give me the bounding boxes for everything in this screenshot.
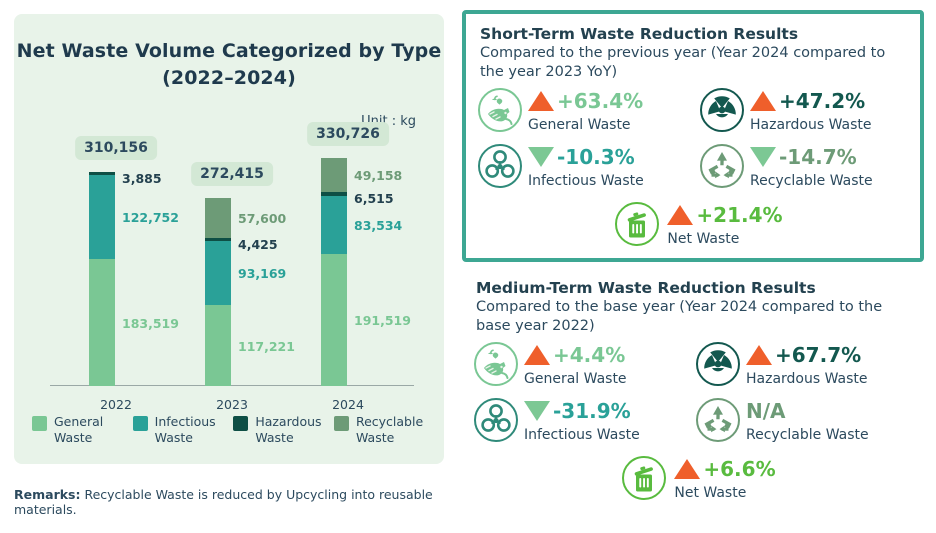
kpi-label: Recyclable Waste	[750, 173, 873, 189]
bar-total-pill: 330,726	[307, 122, 389, 146]
x-axis-tick: 2024	[288, 397, 408, 412]
trend-up-icon	[528, 91, 554, 111]
bar-segment-label: 49,158	[354, 168, 402, 183]
short-term-title: Short-Term Waste Reduction Results	[480, 24, 920, 44]
kpi-item: +4.4%General Waste	[472, 340, 694, 396]
kpi-value: N/A	[746, 399, 786, 423]
legend-swatch	[334, 416, 349, 431]
kpi-item: +67.7%Hazardous Waste	[694, 340, 916, 396]
bar-segment-label: 93,169	[238, 266, 286, 281]
chart-title: Net Waste Volume Categorized by Type (20…	[14, 38, 444, 92]
legend-item: InfectiousWaste	[133, 414, 229, 446]
legend-item: HazardousWaste	[233, 414, 329, 446]
kpi-label: Infectious Waste	[524, 427, 640, 443]
kpi-item-net-waste: +21.4%Net Waste	[476, 200, 920, 249]
kpi-item: +63.4%General Waste	[476, 86, 698, 142]
kpi-label: Hazardous Waste	[746, 371, 868, 387]
kpi-label: Net Waste	[667, 231, 739, 247]
trend-up-icon	[524, 345, 550, 365]
kpi-value: +21.4%	[696, 203, 782, 227]
kpi-label: Hazardous Waste	[750, 117, 872, 133]
x-axis-tick: 2023	[172, 397, 292, 412]
bar-segment	[89, 175, 115, 260]
kpi-value: -10.3%	[557, 145, 635, 169]
stacked-bar-plot: 3,885122,752183,519310,156202257,6004,42…	[42, 142, 422, 414]
kpi-item: -31.9%Infectious Waste	[472, 396, 694, 452]
kpi-label: General Waste	[524, 371, 627, 387]
bar-segment-label: 191,519	[354, 313, 411, 328]
legend-item: RecyclableWaste	[334, 414, 430, 446]
waste-volume-chart-card: Net Waste Volume Categorized by Type (20…	[14, 14, 444, 464]
legend-label: InfectiousWaste	[155, 414, 216, 446]
legend-swatch	[233, 416, 248, 431]
bar-segment-label: 3,885	[122, 171, 162, 186]
medium-term-subtitle: Compared to the base year (Year 2024 com…	[476, 298, 908, 336]
kpi-label: Recyclable Waste	[746, 427, 869, 443]
bar-segment	[321, 254, 347, 386]
trend-down-icon	[524, 401, 550, 421]
kpi-value: -14.7%	[779, 145, 857, 169]
bar-segment-label: 4,425	[238, 237, 278, 252]
short-term-subtitle: Compared to the previous year (Year 2024…	[480, 44, 912, 82]
kpi-value: +47.2%	[779, 89, 865, 113]
short-term-results-panel: Short-Term Waste Reduction Results Compa…	[462, 10, 924, 262]
kpi-value: +67.7%	[775, 343, 861, 367]
legend-label: RecyclableWaste	[356, 414, 423, 446]
kpi-label: General Waste	[528, 117, 631, 133]
kpi-item: N/ARecyclable Waste	[694, 396, 916, 452]
kpi-item: +47.2%Hazardous Waste	[698, 86, 920, 142]
trend-up-icon	[667, 205, 693, 225]
bar-total-pill: 272,415	[191, 162, 273, 186]
medium-term-kpi-grid: +4.4%General Waste+67.7%Hazardous Waste-…	[462, 340, 924, 503]
bar-stack	[321, 158, 347, 386]
legend-item: GeneralWaste	[32, 414, 128, 446]
bar-segment	[205, 305, 231, 386]
legend-swatch	[133, 416, 148, 431]
legend-label: HazardousWaste	[255, 414, 321, 446]
bar-stack	[205, 198, 231, 386]
recycle-icon	[694, 396, 742, 444]
bar-segment	[321, 196, 347, 254]
bar-segment-label: 6,515	[354, 191, 394, 206]
medium-term-title: Medium-Term Waste Reduction Results	[476, 278, 924, 298]
radiation-icon	[698, 86, 746, 134]
biohazard-icon	[472, 396, 520, 444]
biohazard-icon	[476, 142, 524, 190]
trend-down-icon	[750, 147, 776, 167]
trash-bin-icon	[613, 200, 661, 248]
trend-down-icon	[528, 147, 554, 167]
short-term-kpi-grid: +63.4%General Waste+47.2%Hazardous Waste…	[466, 86, 920, 249]
chart-legend: GeneralWasteInfectiousWasteHazardousWast…	[32, 414, 430, 446]
bar-stack	[89, 172, 115, 386]
x-axis-tick: 2022	[56, 397, 176, 412]
kpi-value: -31.9%	[553, 399, 631, 423]
legend-swatch	[32, 416, 47, 431]
bar-segment	[205, 198, 231, 238]
food-waste-icon	[476, 86, 524, 134]
trend-up-icon	[750, 91, 776, 111]
bar-segment-label: 57,600	[238, 211, 286, 226]
kpi-item: -10.3%Infectious Waste	[476, 142, 698, 198]
chart-title-line1: Net Waste Volume Categorized by Type	[14, 38, 444, 65]
recycle-icon	[698, 142, 746, 190]
bar-segment-label: 83,534	[354, 218, 402, 233]
remarks: Remarks: Recyclable Waste is reduced by …	[14, 487, 484, 517]
radiation-icon	[694, 340, 742, 388]
bar-segment	[205, 241, 231, 305]
remarks-prefix: Remarks:	[14, 487, 80, 502]
kpi-label: Net Waste	[674, 485, 746, 501]
bar-total-pill: 310,156	[75, 136, 157, 160]
trend-up-icon	[746, 345, 772, 365]
bar-segment-label: 183,519	[122, 316, 179, 331]
kpi-item: -14.7%Recyclable Waste	[698, 142, 920, 198]
trash-bin-icon	[620, 454, 668, 502]
kpi-label: Infectious Waste	[528, 173, 644, 189]
kpi-item-net-waste: +6.6%Net Waste	[472, 454, 924, 503]
chart-title-line2: (2022–2024)	[14, 65, 444, 92]
kpi-value: +6.6%	[703, 457, 775, 481]
bar-segment-label: 117,221	[238, 339, 295, 354]
medium-term-results-panel: Medium-Term Waste Reduction Results Comp…	[462, 268, 924, 526]
kpi-value: +63.4%	[557, 89, 643, 113]
kpi-value: +4.4%	[553, 343, 625, 367]
legend-label: GeneralWaste	[54, 414, 103, 446]
bar-segment	[89, 259, 115, 386]
trend-up-icon	[674, 459, 700, 479]
bar-segment	[321, 158, 347, 192]
bar-segment-label: 122,752	[122, 210, 179, 225]
food-waste-icon	[472, 340, 520, 388]
